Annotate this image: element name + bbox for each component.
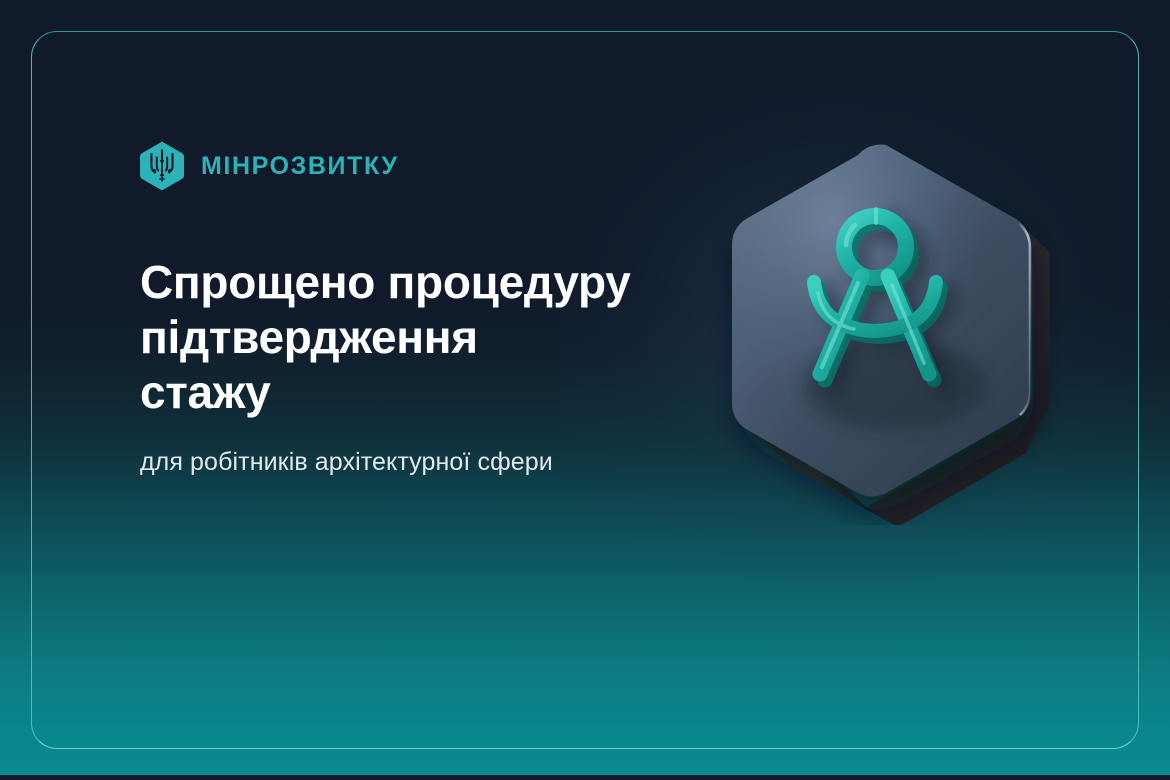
- banner-canvas: МІНРОЗВИТКУ Спрощено процедуру підтвердж…: [0, 0, 1170, 780]
- content-column: МІНРОЗВИТКУ Спрощено процедуру підтвердж…: [140, 138, 700, 478]
- tryzub-hexagon-icon: [140, 141, 184, 191]
- headline-line-2: підтвердження: [140, 311, 478, 363]
- hexagon-3d-badge: [690, 135, 1080, 525]
- headline-line-1: Спрощено процедуру: [140, 256, 631, 308]
- bottom-edge-strip: [0, 775, 1170, 780]
- page-title: Спрощено процедуру підтвердження стажу: [140, 255, 680, 421]
- brand-wordmark: МІНРОЗВИТКУ: [201, 154, 399, 179]
- page-subtitle: для робітників архітектурної сфери: [140, 447, 700, 478]
- headline-line-3: стажу: [140, 366, 270, 418]
- brand-logo-lockup[interactable]: МІНРОЗВИТКУ: [140, 138, 700, 194]
